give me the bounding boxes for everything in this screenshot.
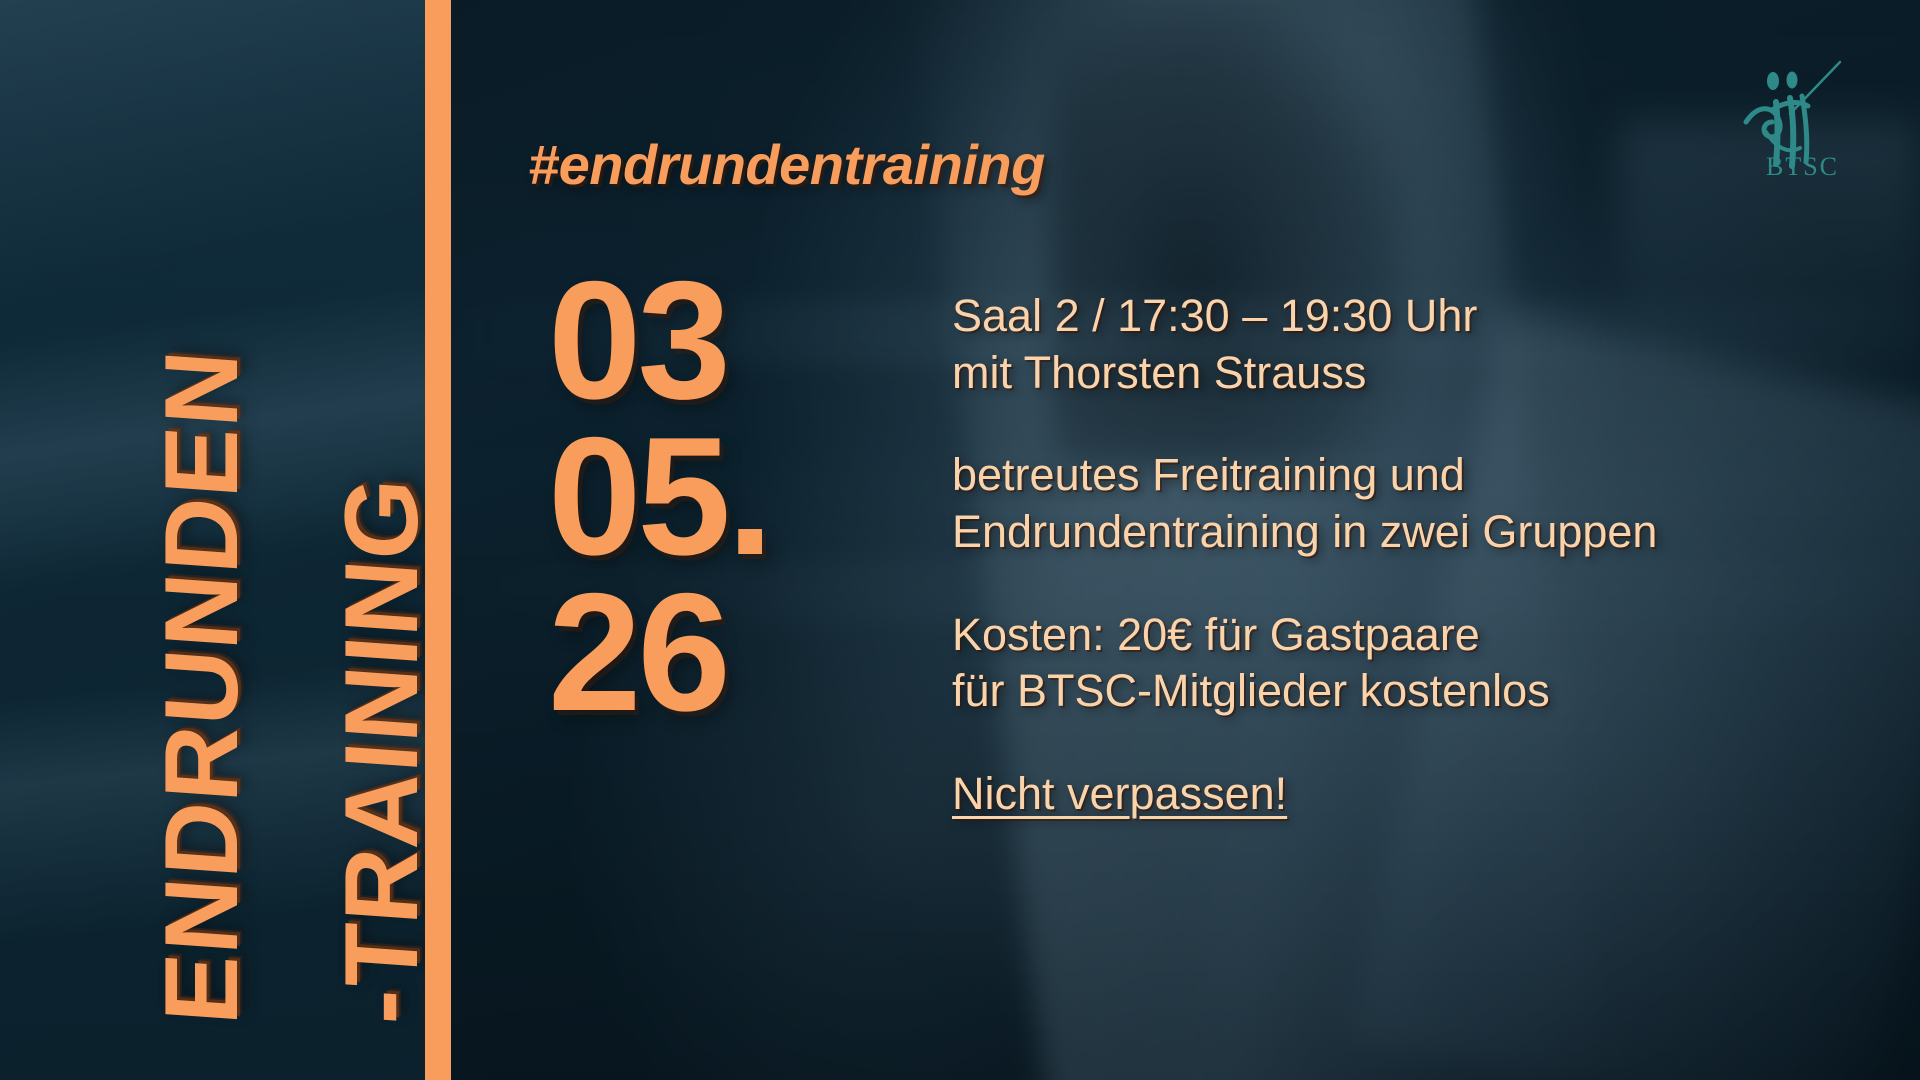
btsc-logo: BTSC	[1728, 36, 1878, 184]
date-year: 26	[548, 574, 770, 730]
call-to-action-text: Nicht verpassen!	[952, 766, 1287, 823]
detail-trainer: mit Thorsten Strauss	[952, 345, 1832, 402]
detail-block-cta: Nicht verpassen!	[952, 766, 1832, 823]
event-poster: ENDRUNDEN -TRAINING #endrundentraining 0…	[0, 0, 1920, 1080]
event-details: Saal 2 / 17:30 – 19:30 Uhr mit Thorsten …	[952, 288, 1832, 823]
detail-block-time-trainer: Saal 2 / 17:30 – 19:30 Uhr mit Thorsten …	[952, 288, 1832, 401]
detail-block-price: Kosten: 20€ für Gastpaare für BTSC-Mitgl…	[952, 607, 1832, 720]
detail-description-line-2: Endrundentraining in zwei Gruppen	[952, 504, 1832, 561]
dancer-heads	[1767, 72, 1798, 91]
detail-block-description: betreutes Freitraining und Endrundentrai…	[952, 447, 1832, 560]
detail-price-members: für BTSC-Mitglieder kostenlos	[952, 663, 1832, 720]
detail-description-line-1: betreutes Freitraining und	[952, 447, 1832, 504]
orange-divider-bar	[425, 0, 451, 1080]
hashtag-label: #endrundentraining	[528, 132, 1045, 197]
vertical-title-line-2: -TRAINING	[330, 474, 425, 1028]
btsc-logo-label: BTSC	[1766, 152, 1839, 182]
detail-price-guests: Kosten: 20€ für Gastpaare	[952, 607, 1832, 664]
vertical-title-line-1: ENDRUNDEN	[150, 347, 254, 1028]
detail-room-time: Saal 2 / 17:30 – 19:30 Uhr	[952, 288, 1832, 345]
date-day: 03	[548, 262, 770, 418]
left-title-panel: ENDRUNDEN -TRAINING	[0, 0, 425, 1080]
event-date: 03 05. 26	[548, 262, 770, 731]
date-month: 05.	[548, 418, 770, 574]
